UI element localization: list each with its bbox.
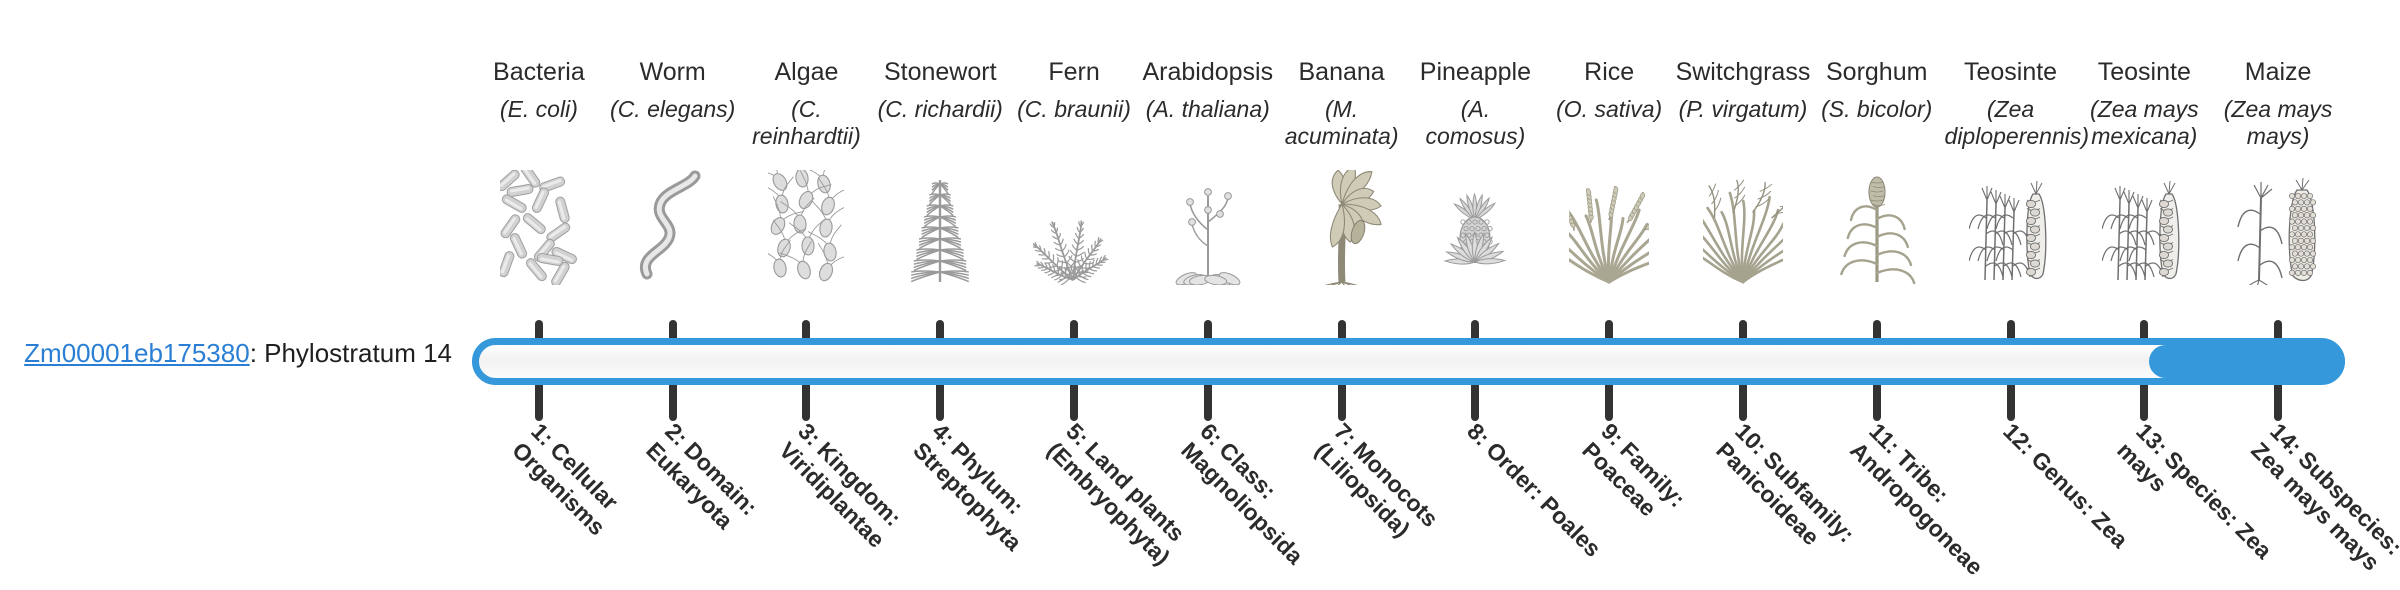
species-scientific-name: (E. coli) xyxy=(473,96,605,123)
phylostratum-rank-label: 14: Subspecies: Zea mays mays xyxy=(2246,418,2400,590)
species-column-4: Stonewort(C. richardii)4: Phylum: Strept… xyxy=(873,0,1007,580)
species-common-name: Worm xyxy=(598,58,748,86)
species-column-9: Rice(O. sativa)9: Family: Poaceae xyxy=(1542,0,1676,580)
species-common-name: Switchgrass xyxy=(1668,58,1818,86)
species-column-13: Teosinte(Zea mays mexicana)13: Species: … xyxy=(2077,0,2211,580)
species-common-name: Fern xyxy=(999,58,1149,86)
species-scientific-name: (M. acuminata) xyxy=(1276,96,1408,150)
species-scientific-name: (C. braunii) xyxy=(1008,96,1140,123)
species-scientific-name: (Zea diploperennis) xyxy=(1945,96,2077,150)
species-column-10: Switchgrass(P. virgatum)10: Subfamily: P… xyxy=(1676,0,1810,580)
species-scientific-name: (C. reinhardtii) xyxy=(740,96,872,150)
species-column-2: Worm(C. elegans)2: Domain: Eukaryota xyxy=(606,0,740,580)
species-common-name: Sorghum xyxy=(1802,58,1952,86)
species-common-name: Bacteria xyxy=(464,58,614,86)
species-scientific-name: (Zea mays mexicana) xyxy=(2078,96,2210,150)
species-common-name: Maize xyxy=(2203,58,2353,86)
species-scientific-name: (C. elegans) xyxy=(607,96,739,123)
species-common-name: Pineapple xyxy=(1400,58,1550,86)
species-column-12: Teosinte(Zea diploperennis)12: Genus: Ze… xyxy=(1944,0,2078,580)
species-scientific-name: (A. comosus) xyxy=(1409,96,1541,150)
teosinte-plant-ear-icon xyxy=(1951,170,2071,285)
species-common-name: Algae xyxy=(731,58,881,86)
stonewort-icon xyxy=(880,170,1000,285)
species-scientific-name: (Zea mays mays) xyxy=(2212,96,2344,150)
bacteria-rods-icon xyxy=(479,170,599,285)
nematode-worm-icon xyxy=(613,170,733,285)
species-scientific-name: (A. thaliana) xyxy=(1142,96,1274,123)
gene-id-link[interactable]: Zm00001eb175380 xyxy=(24,338,250,368)
fern-icon xyxy=(1014,170,1134,285)
species-column-14: Maize(Zea mays mays)14: Subspecies: Zea … xyxy=(2211,0,2345,580)
gene-phylostratum-label: Zm00001eb175380: Phylostratum 14 xyxy=(0,338,452,368)
maize-plant-cob-icon xyxy=(2218,170,2338,285)
species-common-name: Rice xyxy=(1534,58,1684,86)
species-common-name: Teosinte xyxy=(2069,58,2219,86)
species-column-6: Arabidopsis(A. thaliana)6: Class: Magnol… xyxy=(1141,0,1275,580)
species-column-11: Sorghum(S. bicolor)11: Tribe: Andropogon… xyxy=(1810,0,1944,580)
phylostratum-progress-fill xyxy=(2149,345,2345,378)
arabidopsis-icon xyxy=(1148,170,1268,285)
species-column-3: Algae(C. reinhardtii)3: Kingdom: Viridip… xyxy=(740,0,874,580)
species-common-name: Banana xyxy=(1267,58,1417,86)
sorghum-plant-icon xyxy=(1817,170,1937,285)
species-scientific-name: (C. richardii) xyxy=(874,96,1006,123)
species-scientific-name: (O. sativa) xyxy=(1543,96,1675,123)
species-column-8: Pineapple(A. comosus)8: Order: Poales xyxy=(1409,0,1543,580)
teosinte-plant-ear-icon xyxy=(2084,170,2204,285)
phylostratigraphy-timeline: Zm00001eb175380: Phylostratum 14 Bacteri… xyxy=(0,0,2400,580)
banana-plant-icon xyxy=(1282,170,1402,285)
species-common-name: Arabidopsis xyxy=(1133,58,1283,86)
rice-plant-icon xyxy=(1549,170,1669,285)
phylostratum-text: : Phylostratum 14 xyxy=(250,338,452,368)
species-column-7: Banana(M. acuminata)7: Monocots (Liliops… xyxy=(1275,0,1409,580)
algae-cells-icon xyxy=(746,170,866,285)
species-scientific-name: (S. bicolor) xyxy=(1811,96,1943,123)
species-common-name: Teosinte xyxy=(1936,58,2086,86)
species-common-name: Stonewort xyxy=(865,58,1015,86)
species-column-5: Fern(C. braunii)5: Land plants (Embryoph… xyxy=(1007,0,1141,580)
switchgrass-icon xyxy=(1683,170,1803,285)
species-column-1: Bacteria(E. coli)1: Cellular Organisms xyxy=(472,0,606,580)
pineapple-plant-icon xyxy=(1415,170,1535,285)
species-scientific-name: (P. virgatum) xyxy=(1677,96,1809,123)
phylostratum-progress-track[interactable] xyxy=(472,338,2345,385)
species-columns: Bacteria(E. coli)1: Cellular OrganismsWo… xyxy=(472,0,2345,580)
